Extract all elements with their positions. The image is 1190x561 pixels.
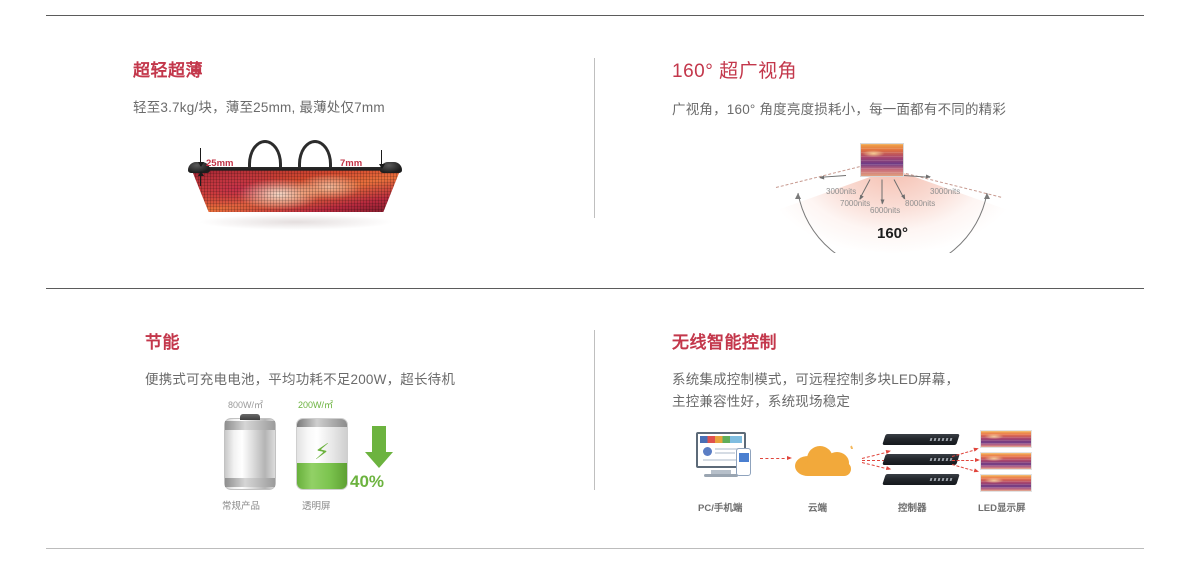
divider-top	[46, 15, 1144, 16]
feature-title-energy-saving: 节能	[145, 328, 575, 353]
divider-bottom	[46, 548, 1144, 549]
angle-led-screen	[860, 143, 904, 177]
divider-middle	[46, 288, 1144, 289]
viewing-angle-value: 160°	[770, 225, 1015, 242]
nits-label: 7000nits	[840, 199, 870, 208]
controller-icon	[882, 474, 960, 485]
divider-vertical-bottom	[594, 330, 595, 490]
feature-page: 超轻超薄 轻至3.7kg/块，薄至25mm, 最薄处仅7mm 25mm 7mm …	[0, 0, 1190, 561]
power-label-transparent: 200W/㎡	[298, 398, 333, 411]
feature-wireless-control: 无线智能控制 系统集成控制模式，可远程控制多块LED屏幕， 主控兼容性好，系统现…	[672, 328, 1132, 414]
feature-desc-wireless-control: 系统集成控制模式，可远程控制多块LED屏幕， 主控兼容性好，系统现场稳定	[672, 369, 1132, 414]
power-label-conventional: 800W/㎡	[228, 398, 263, 411]
dimension-label-thick: 25mm	[206, 158, 233, 169]
battery-cap	[240, 414, 260, 420]
flow-arrow-controller-to-screen	[952, 460, 978, 461]
battery-label-transparent: 透明屏	[302, 498, 331, 512]
feature-desc-ultra-light: 轻至3.7kg/块，薄至25mm, 最薄处仅7mm	[133, 97, 573, 119]
flow-stage-label: PC/手机端	[698, 500, 742, 514]
pc-monitor-icon	[696, 432, 754, 480]
controller-icon	[882, 434, 960, 445]
panel-led-surface	[192, 168, 400, 212]
lightning-bolt-icon: ⚡	[314, 441, 329, 463]
panel-hook-icon	[248, 140, 282, 170]
led-screen-group	[980, 428, 1036, 494]
thin-panel-illustration: 25mm 7mm	[176, 140, 416, 240]
battery-band	[225, 478, 275, 487]
feature-desc-wide-angle: 广视角，160° 角度亮度损耗小，每一面都有不同的精彩	[672, 99, 1132, 121]
divider-vertical-top	[594, 58, 595, 218]
panel-shadow	[198, 214, 394, 230]
feature-title-ultra-light: 超轻超薄	[133, 56, 573, 81]
nits-label: 6000nits	[870, 206, 900, 215]
flow-stage-label: LED显示屏	[978, 500, 1026, 514]
nits-label: 3000nits	[930, 187, 960, 196]
monitor-base	[704, 474, 738, 477]
led-screen-icon	[980, 474, 1032, 492]
nits-label: 8000nits	[905, 199, 935, 208]
feature-desc-energy-saving: 便携式可充电电池，平均功耗不足200W，超长待机	[145, 369, 575, 391]
led-screen-icon	[980, 452, 1032, 470]
feature-title-wireless-control: 无线智能控制	[672, 328, 1132, 353]
battery-conventional-icon	[224, 418, 276, 490]
dimension-arrow-down-icon	[381, 150, 382, 168]
battery-charge-level	[297, 463, 347, 489]
feature-title-wide-angle: 160° 超广视角	[672, 56, 1132, 83]
dimension-label-thin: 7mm	[340, 158, 362, 169]
battery-label-conventional: 常规产品	[222, 498, 260, 512]
gear-icon	[703, 447, 712, 456]
monitor-toolbar	[700, 436, 742, 443]
flow-stage-label: 控制器	[898, 500, 927, 514]
monitor-text-line	[715, 452, 735, 454]
dimension-arrow-down-icon	[200, 148, 201, 166]
battery-transparent-icon: ⚡	[296, 418, 348, 490]
phone-screen	[739, 453, 749, 462]
battery-band	[297, 419, 347, 427]
dimension-arrow-up-icon	[200, 172, 201, 186]
wifi-icon	[843, 444, 853, 454]
feature-energy-saving: 节能 便携式可充电电池，平均功耗不足200W，超长待机	[145, 328, 575, 391]
controller-rack-group	[884, 432, 962, 490]
nits-label: 3000nits	[826, 187, 856, 196]
panel-hook-icon	[298, 140, 332, 170]
cloud-icon	[795, 442, 857, 476]
battery-comparison-illustration: 800W/㎡ 200W/㎡ ⚡ 常规产品 透明屏 40%	[214, 398, 414, 516]
flow-stage-label: 云端	[808, 500, 827, 514]
phone-icon	[736, 448, 751, 476]
feature-ultra-light: 超轻超薄 轻至3.7kg/块，薄至25mm, 最薄处仅7mm	[133, 56, 573, 119]
viewing-angle-illustration: 3000nits 7000nits 6000nits 8000nits 3000…	[770, 143, 1015, 253]
battery-band	[225, 421, 275, 430]
wireless-control-flow-illustration: PC/手机端 云端 控制器 LED显示屏	[690, 428, 1040, 518]
controller-icon	[882, 454, 960, 465]
feature-wide-angle: 160° 超广视角 广视角，160° 角度亮度损耗小，每一面都有不同的精彩	[672, 56, 1132, 121]
flow-arrow-pc-to-cloud	[760, 458, 790, 459]
power-reduction-value: 40%	[350, 472, 384, 492]
angle-arrow-center	[882, 180, 883, 204]
led-screen-icon	[980, 430, 1032, 448]
